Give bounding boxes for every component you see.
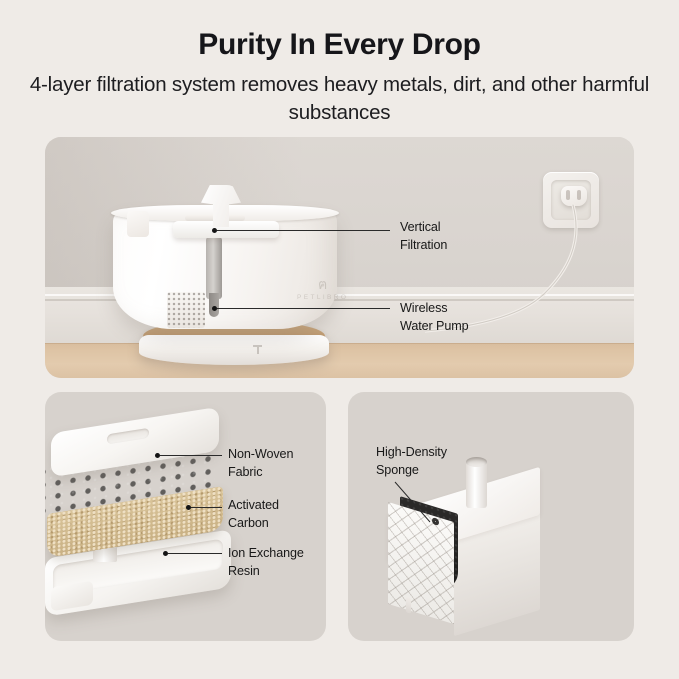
brand-glyph-icon: ฅ bbox=[297, 277, 348, 291]
bowl-handle bbox=[127, 211, 149, 237]
leader-line-ion-exchange-resin bbox=[168, 553, 222, 554]
callout-activated-carbon: Activated Carbon bbox=[228, 497, 279, 533]
page-subtitle: 4-layer filtration system removes heavy … bbox=[0, 71, 679, 128]
callout-high-density-sponge: High-Density Sponge bbox=[376, 444, 447, 480]
panel-sponge-pump bbox=[348, 392, 634, 641]
leader-line-activated-carbon bbox=[191, 507, 222, 508]
callout-ion-exchange-resin: Ion Exchange Resin bbox=[228, 545, 304, 581]
callout-wireless-water-pump: Wireless Water Pump bbox=[400, 300, 469, 336]
brand-wordmark: PETLIBRO bbox=[297, 294, 348, 301]
filtration-stem bbox=[206, 237, 222, 299]
base-rim bbox=[139, 335, 329, 365]
base-marker-icon bbox=[253, 345, 262, 354]
pump-outlet-tube bbox=[466, 462, 487, 508]
page-title: Purity In Every Drop bbox=[0, 28, 679, 61]
filtration-stem-tip bbox=[209, 293, 219, 317]
callout-vertical-filtration: Vertical Filtration bbox=[400, 219, 447, 255]
housing-pin bbox=[406, 596, 411, 614]
pet-water-fountain: ฅ PETLIBRO bbox=[105, 185, 345, 370]
pump-mesh-grille bbox=[167, 292, 205, 328]
leader-line-wireless-pump bbox=[217, 308, 390, 309]
panel-filter-layers bbox=[45, 392, 326, 641]
panel-main-fountain: ฅ PETLIBRO bbox=[45, 137, 634, 378]
grille-mesh-pattern bbox=[388, 502, 454, 624]
brand-logo: ฅ PETLIBRO bbox=[297, 277, 348, 301]
filter-exploded-view bbox=[45, 392, 326, 641]
fabric-lid-slot bbox=[107, 428, 149, 445]
infographic-page: Purity In Every Drop 4-layer filtration … bbox=[0, 0, 679, 679]
leader-line-vertical-filtration bbox=[217, 230, 390, 231]
power-plug bbox=[561, 186, 587, 206]
header: Purity In Every Drop 4-layer filtration … bbox=[0, 28, 679, 128]
pump-housing-view bbox=[348, 392, 634, 641]
leader-line-non-woven-fabric bbox=[160, 455, 222, 456]
pump-grille-face bbox=[388, 502, 454, 624]
callout-non-woven-fabric: Non-Woven Fabric bbox=[228, 446, 293, 482]
